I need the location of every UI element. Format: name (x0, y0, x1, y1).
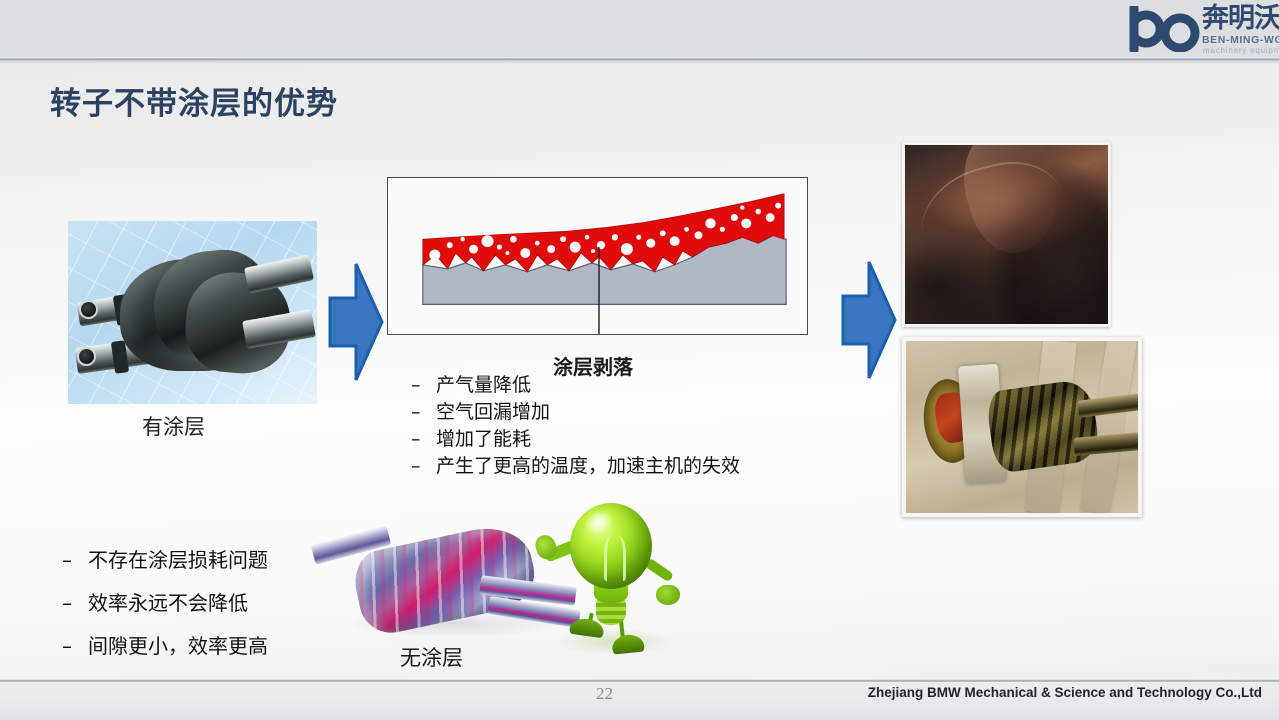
damaged-rotor (985, 378, 1101, 474)
slide-title: 转子不带涂层的优势 (50, 78, 338, 123)
header-divider-shadow (0, 61, 1279, 64)
bullet-dash: – (411, 454, 436, 479)
logo-english-name: BEN-MING-WO (1202, 34, 1279, 46)
bullet-text: 增加了能耗 (436, 427, 531, 452)
list-item: – 空气回漏增加 (411, 400, 831, 425)
bullet-text: 空气回漏增加 (436, 400, 550, 425)
header-band (0, 0, 1279, 58)
coated-rotor-caption: 有涂层 (142, 411, 205, 441)
photo-content (906, 341, 1138, 513)
right-arrow-icon-2 (841, 260, 897, 380)
uncoated-rotor-caption: 无涂层 (400, 642, 463, 672)
right-arrow-icon-1 (328, 262, 384, 382)
slide-canvas: 奔明沃 BEN-MING-WO machinery equipment 转子不带… (0, 0, 1279, 720)
bullet-dash: – (411, 427, 436, 452)
bullet-dash: – (62, 631, 88, 661)
rotor-flutes (985, 378, 1101, 474)
damaged-rotor-assembly-photo (902, 337, 1142, 517)
bullet-text: 不存在涂层损耗问题 (88, 545, 268, 575)
coating-delamination-diagram (387, 177, 808, 335)
bullet-text: 效率永远不会降低 (88, 588, 248, 618)
uncoated-rotor-image (312, 503, 684, 673)
coating-issue-list: – 产气量降低 – 空气回漏增加 – 增加了能耗 – 产生了更高的温度，加速主机… (411, 373, 831, 481)
logo-tagline: machinery equipment (1203, 46, 1279, 55)
bullet-dash: – (411, 373, 436, 398)
bullet-dash: – (411, 400, 436, 425)
bullet-text: 产气量降低 (436, 373, 531, 398)
list-item: – 产生了更高的温度，加速主机的失效 (411, 454, 831, 479)
logo-chinese-name: 奔明沃 (1202, 4, 1279, 34)
bo-monogram-icon (1128, 6, 1206, 52)
list-item: – 增加了能耗 (411, 427, 831, 452)
bullet-text: 产生了更高的温度，加速主机的失效 (436, 454, 740, 479)
bullet-dash: – (62, 545, 88, 575)
page-number: 22 (596, 684, 613, 704)
worn-rotor-closeup-photo (902, 142, 1111, 327)
bullet-text: 间隙更小，效率更高 (88, 631, 268, 661)
bulb-filament (604, 535, 626, 581)
company-logo: 奔明沃 BEN-MING-WO machinery equipment (1128, 4, 1276, 58)
footer-company-name: Zhejiang BMW Mechanical & Science and Te… (868, 685, 1262, 700)
bullet-dash: – (62, 588, 88, 618)
bulb-hand-right (656, 585, 680, 605)
list-item: – 产气量降低 (411, 373, 831, 398)
coated-rotor-image (68, 221, 317, 404)
